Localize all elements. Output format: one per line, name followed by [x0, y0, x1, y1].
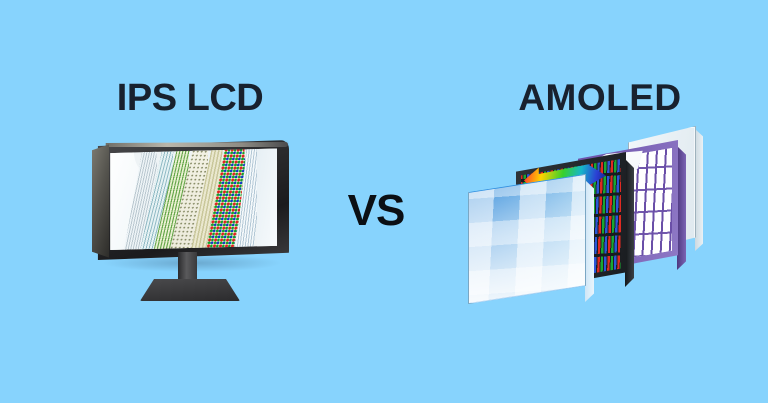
rear-glass-edge	[695, 129, 703, 251]
comparison-infographic: IPS LCD VS AMOLED	[0, 0, 768, 403]
lcd-monitor-illustration	[92, 140, 302, 310]
tft-backplane-edge	[677, 146, 686, 270]
monitor-stand-base	[140, 279, 240, 301]
cover-glass-checks	[469, 175, 585, 303]
monitor-left-bezel	[92, 142, 109, 260]
versus-label: VS	[330, 189, 422, 233]
cover-glass-layer	[468, 174, 586, 304]
screen-band-pale	[257, 148, 277, 251]
ips-lcd-title: IPS LCD	[0, 79, 380, 117]
rgb-subpixel-edge	[625, 159, 634, 287]
monitor-screen	[106, 148, 277, 251]
amoled-stack-illustration	[468, 126, 718, 316]
amoled-title: AMOLED	[420, 79, 768, 116]
cover-glass-edge	[585, 180, 594, 302]
monitor-top-highlight	[102, 142, 288, 147]
